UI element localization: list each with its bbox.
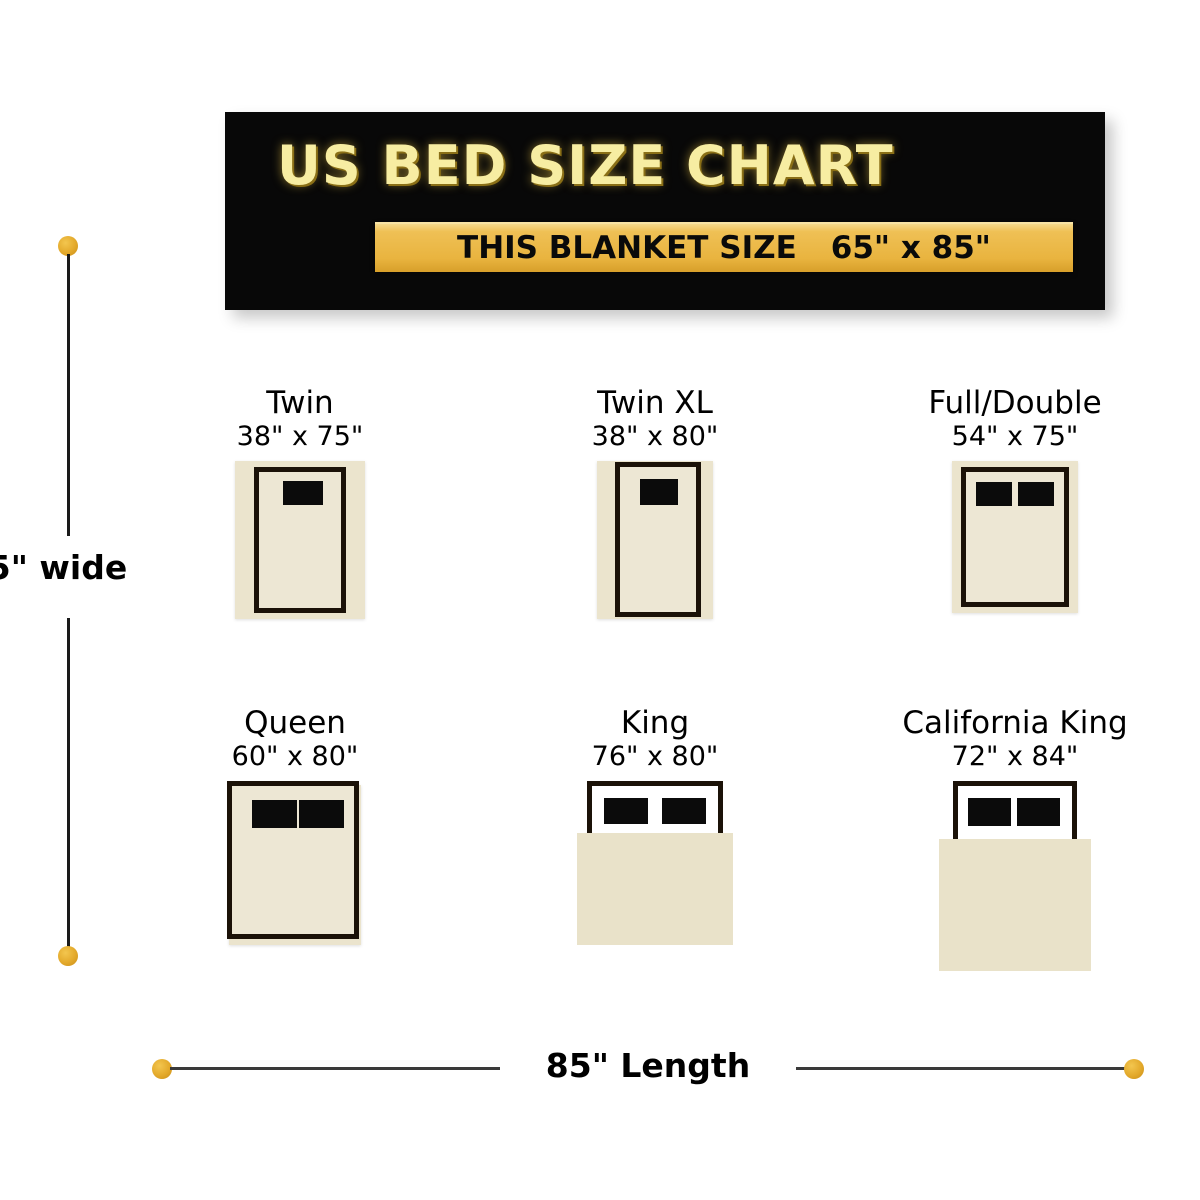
bed-dims-queen: 60" x 80"	[165, 743, 425, 771]
pillow-left	[604, 798, 648, 824]
bed-frame	[227, 781, 359, 939]
bed-card-twin-xl: Twin XL 38" x 80"	[525, 388, 785, 619]
pillow-right	[1017, 798, 1060, 826]
bed-name-king: King	[520, 708, 790, 740]
bed-card-california-king: California King 72" x 84"	[865, 708, 1165, 977]
header-banner: US BED SIZE CHART THIS BLANKET SIZE 65" …	[225, 112, 1105, 310]
pillow-right	[662, 798, 706, 824]
bed-frame	[615, 462, 701, 617]
bed-diagram-king	[577, 781, 733, 951]
bed-dims-king: 76" x 80"	[520, 743, 790, 771]
width-measurement-guide	[48, 236, 88, 966]
length-endpoint-right-dot	[1124, 1059, 1144, 1079]
bed-diagram-queen	[227, 781, 363, 947]
blanket-size-strip: THIS BLANKET SIZE 65" x 85"	[375, 222, 1073, 272]
length-line-left	[170, 1067, 500, 1070]
pillow-right	[299, 800, 344, 828]
pillow-left	[976, 482, 1012, 506]
bed-diagram-twin	[235, 461, 365, 619]
page-title: US BED SIZE CHART	[277, 134, 894, 197]
bed-name-full-double: Full/Double	[880, 388, 1150, 420]
bed-blanket	[587, 833, 723, 933]
bed-dims-full-double: 54" x 75"	[880, 423, 1150, 451]
bed-diagram-twin-xl	[597, 461, 713, 619]
pillow-left	[640, 479, 678, 505]
length-line-right	[796, 1067, 1126, 1070]
bed-name-twin-xl: Twin XL	[525, 388, 785, 420]
bed-name-twin: Twin	[170, 388, 430, 420]
width-endpoint-bottom-dot	[58, 946, 78, 966]
bed-diagram-california-king	[939, 781, 1091, 977]
length-endpoint-left-dot	[152, 1059, 172, 1079]
bed-frame	[254, 467, 346, 613]
bed-card-full-double: Full/Double 54" x 75"	[880, 388, 1150, 613]
blanket-size-label: THIS BLANKET SIZE	[457, 230, 797, 266]
bed-card-twin: Twin 38" x 75"	[170, 388, 430, 619]
bed-frame	[961, 467, 1069, 607]
width-measurement-label: 65" wide	[0, 548, 136, 587]
width-line-lower	[67, 618, 70, 948]
bed-dims-twin-xl: 38" x 80"	[525, 423, 785, 451]
width-endpoint-top-dot	[58, 236, 78, 256]
bed-dims-california-king: 72" x 84"	[865, 743, 1165, 771]
pillow-right	[1018, 482, 1054, 506]
length-measurement-guide: 85" Length	[152, 1058, 1144, 1080]
length-measurement-label: 85" Length	[508, 1046, 788, 1085]
bed-card-queen: Queen 60" x 80"	[165, 708, 425, 947]
bed-name-queen: Queen	[165, 708, 425, 740]
bed-dims-twin: 38" x 75"	[170, 423, 430, 451]
width-line-upper	[67, 254, 70, 536]
bed-frame	[953, 781, 1077, 953]
bed-name-california-king: California King	[865, 708, 1165, 740]
bed-card-king: King 76" x 80"	[520, 708, 790, 951]
bed-diagram-full-double	[952, 461, 1078, 613]
bed-blanket	[953, 839, 1077, 953]
pillow-left	[252, 800, 297, 828]
bed-frame	[587, 781, 723, 933]
pillow-left	[283, 481, 323, 505]
blanket-size-value: 65" x 85"	[831, 230, 991, 266]
pillow-left	[968, 798, 1011, 826]
